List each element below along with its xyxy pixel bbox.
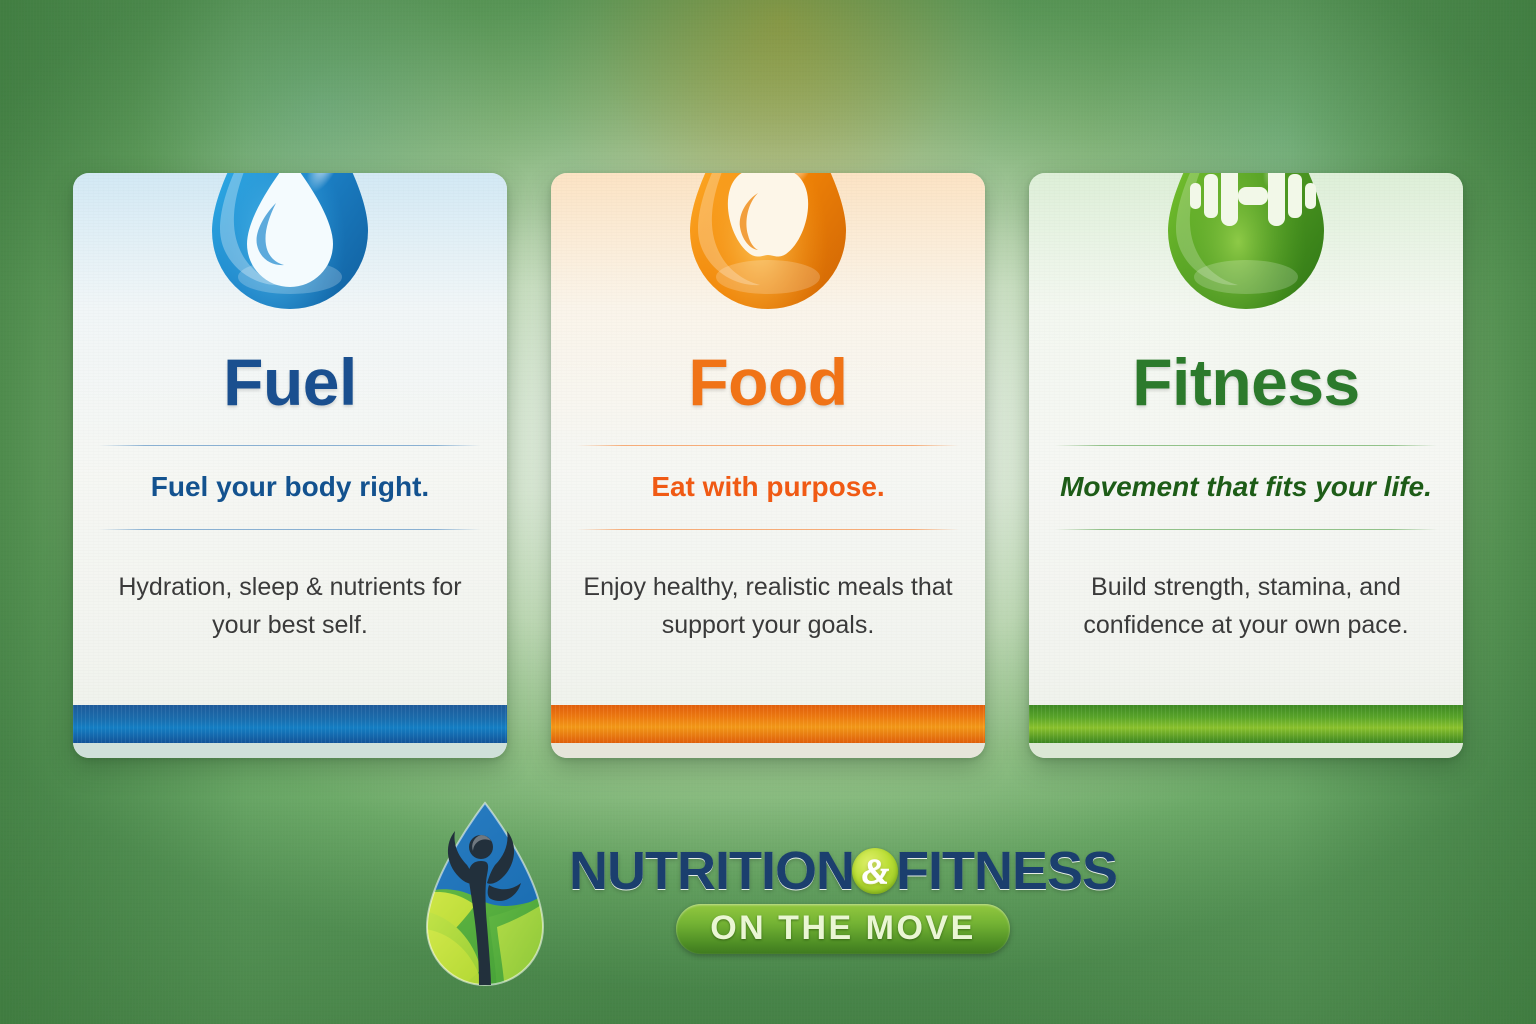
- brand-tagline-text: ON THE MOVE: [710, 909, 976, 947]
- card-title: Fitness: [1132, 349, 1360, 415]
- card-accent-bar: [73, 705, 507, 743]
- dumbbell-icon: [1146, 173, 1346, 331]
- card-accent-foot: [551, 743, 985, 758]
- brand-tagline-pill: ON THE MOVE: [676, 904, 1010, 954]
- brand-wordmark: NUTRITION & FITNESS ON THE MOVE: [569, 844, 1117, 954]
- droplet-person-leaves-logo: [419, 799, 551, 999]
- card-description: Build strength, stamina, and confidence …: [1055, 530, 1437, 644]
- feature-card-food[interactable]: Food Eat with purpose. Enjoy healthy, re…: [551, 173, 985, 758]
- card-description: Hydration, sleep & nutrients for your be…: [99, 530, 481, 644]
- brand-name-part2: FITNESS: [896, 844, 1117, 898]
- card-tagline: Eat with purpose.: [647, 446, 888, 529]
- brand-ampersand-badge: &: [852, 848, 898, 894]
- card-title: Fuel: [223, 349, 357, 415]
- brand-name-part1: NUTRITION: [569, 844, 854, 898]
- feature-card-fitness[interactable]: Fitness Movement that fits your life. Bu…: [1029, 173, 1463, 758]
- feature-card-row: Fuel Fuel your body right. Hydration, sl…: [0, 173, 1536, 758]
- brand-name: NUTRITION & FITNESS: [569, 844, 1117, 898]
- card-title: Food: [688, 349, 847, 415]
- card-tagline: Fuel your body right.: [147, 446, 433, 529]
- card-tagline: Movement that fits your life.: [1056, 446, 1436, 529]
- card-accent-bar: [1029, 705, 1463, 743]
- feature-card-fuel[interactable]: Fuel Fuel your body right. Hydration, sl…: [73, 173, 507, 758]
- card-accent-foot: [73, 743, 507, 758]
- apple-icon: [668, 173, 868, 331]
- card-accent-bar: [551, 705, 985, 743]
- card-description: Enjoy healthy, realistic meals that supp…: [577, 530, 959, 644]
- water-drop-icon: [190, 173, 390, 331]
- brand-footer: NUTRITION & FITNESS ON THE MOVE: [0, 784, 1536, 1014]
- card-accent-foot: [1029, 743, 1463, 758]
